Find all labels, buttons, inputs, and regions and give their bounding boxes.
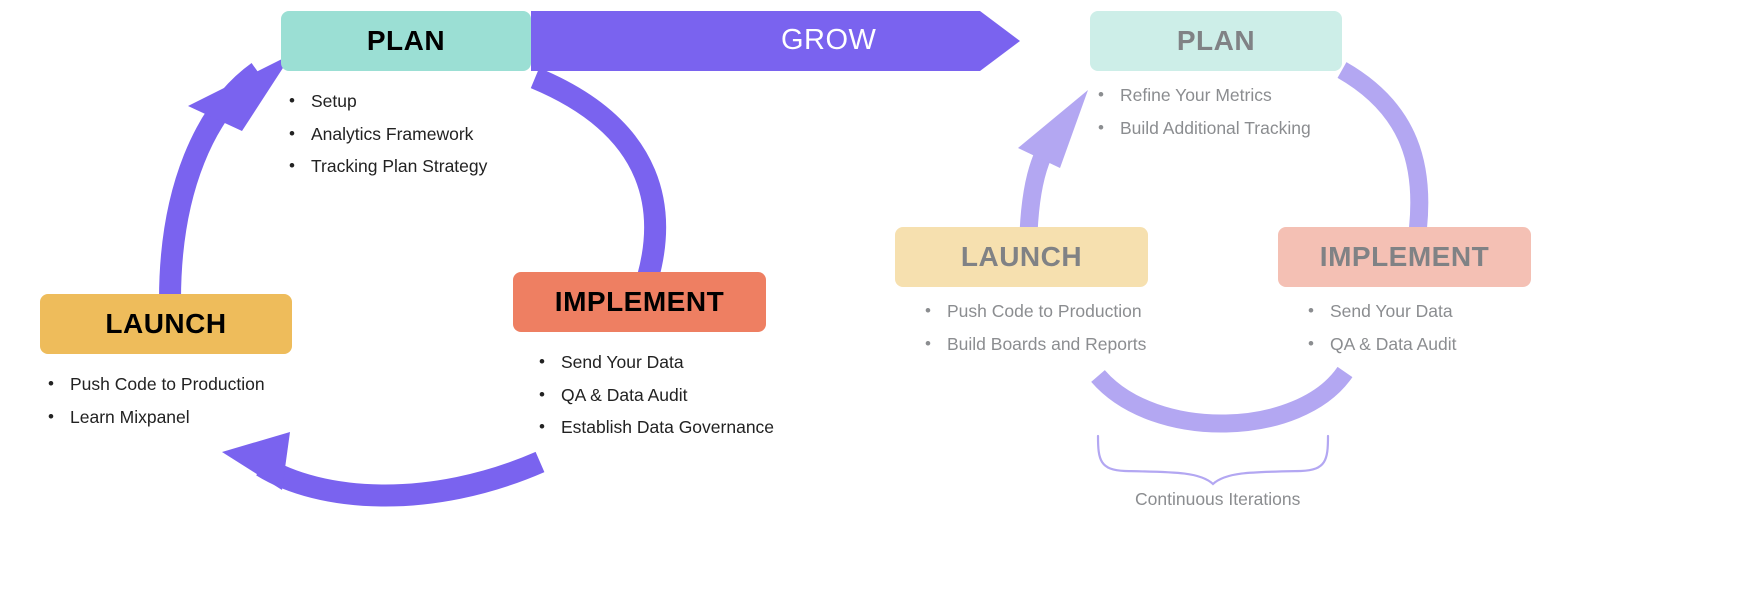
list-item: Refine Your Metrics xyxy=(1090,87,1342,105)
list-item: QA & Data Audit xyxy=(531,387,774,405)
list-item: Learn Mixpanel xyxy=(40,409,292,427)
launch-title-cycle1[interactable]: LAUNCH xyxy=(40,294,292,354)
list-item: Push Code to Production xyxy=(917,303,1148,321)
implement-title-cycle2[interactable]: IMPLEMENT xyxy=(1278,227,1531,287)
list-item: QA & Data Audit xyxy=(1300,336,1531,354)
list-item: Send Your Data xyxy=(531,354,774,372)
launch-title-cycle2[interactable]: LAUNCH xyxy=(895,227,1148,287)
implement-bullets-cycle1: Send Your Data QA & Data Audit Establish… xyxy=(513,354,774,437)
implement-node-cycle1[interactable]: IMPLEMENT Send Your Data QA & Data Audit… xyxy=(513,272,774,452)
list-item: Build Additional Tracking xyxy=(1090,120,1342,138)
implement-bullets-cycle2: Send Your Data QA & Data Audit xyxy=(1278,303,1531,353)
plan-bullets-cycle2: Refine Your Metrics Build Additional Tra… xyxy=(1090,87,1342,137)
arrow-plan-to-implement xyxy=(535,78,655,277)
plan-node-cycle2[interactable]: PLAN Refine Your Metrics Build Additiona… xyxy=(1090,11,1342,152)
implement-title-cycle1[interactable]: IMPLEMENT xyxy=(513,272,766,332)
launch-bullets-cycle2: Push Code to Production Build Boards and… xyxy=(895,303,1148,353)
plan-title-cycle2[interactable]: PLAN xyxy=(1090,11,1342,71)
arrowhead-launch-to-plan xyxy=(188,54,292,131)
launch-bullets-cycle1: Push Code to Production Learn Mixpanel xyxy=(40,376,292,426)
arrow-launch-to-plan xyxy=(170,72,258,300)
continuous-iterations-label: Continuous Iterations xyxy=(1135,489,1300,510)
arrow-implement-to-launch-2 xyxy=(1098,372,1345,424)
continuous-iterations-brace xyxy=(1098,436,1328,484)
list-item: Establish Data Governance xyxy=(531,419,774,437)
plan-title-cycle1[interactable]: PLAN xyxy=(281,11,531,71)
launch-node-cycle1[interactable]: LAUNCH Push Code to Production Learn Mix… xyxy=(40,294,292,441)
grow-arrow-label: GROW xyxy=(781,24,876,57)
plan-node-cycle1[interactable]: PLAN Setup Analytics Framework Tracking … xyxy=(281,11,531,191)
list-item: Build Boards and Reports xyxy=(917,336,1148,354)
list-item: Push Code to Production xyxy=(40,376,292,394)
list-item: Analytics Framework xyxy=(281,126,531,144)
arrow-implement-to-launch xyxy=(262,462,540,496)
list-item: Setup xyxy=(281,93,531,111)
launch-node-cycle2[interactable]: LAUNCH Push Code to Production Build Boa… xyxy=(895,227,1148,368)
list-item: Tracking Plan Strategy xyxy=(281,158,531,176)
implement-node-cycle2[interactable]: IMPLEMENT Send Your Data QA & Data Audit xyxy=(1278,227,1531,368)
diagram-canvas: GROW PLAN Setup Analytics Framework Trac… xyxy=(0,0,1740,589)
plan-bullets-cycle1: Setup Analytics Framework Tracking Plan … xyxy=(281,93,531,176)
list-item: Send Your Data xyxy=(1300,303,1531,321)
arrowhead-launch-to-plan-2 xyxy=(1018,90,1088,168)
grow-arrow-shape xyxy=(531,11,1020,71)
arrow-plan-to-implement-2 xyxy=(1342,70,1419,228)
